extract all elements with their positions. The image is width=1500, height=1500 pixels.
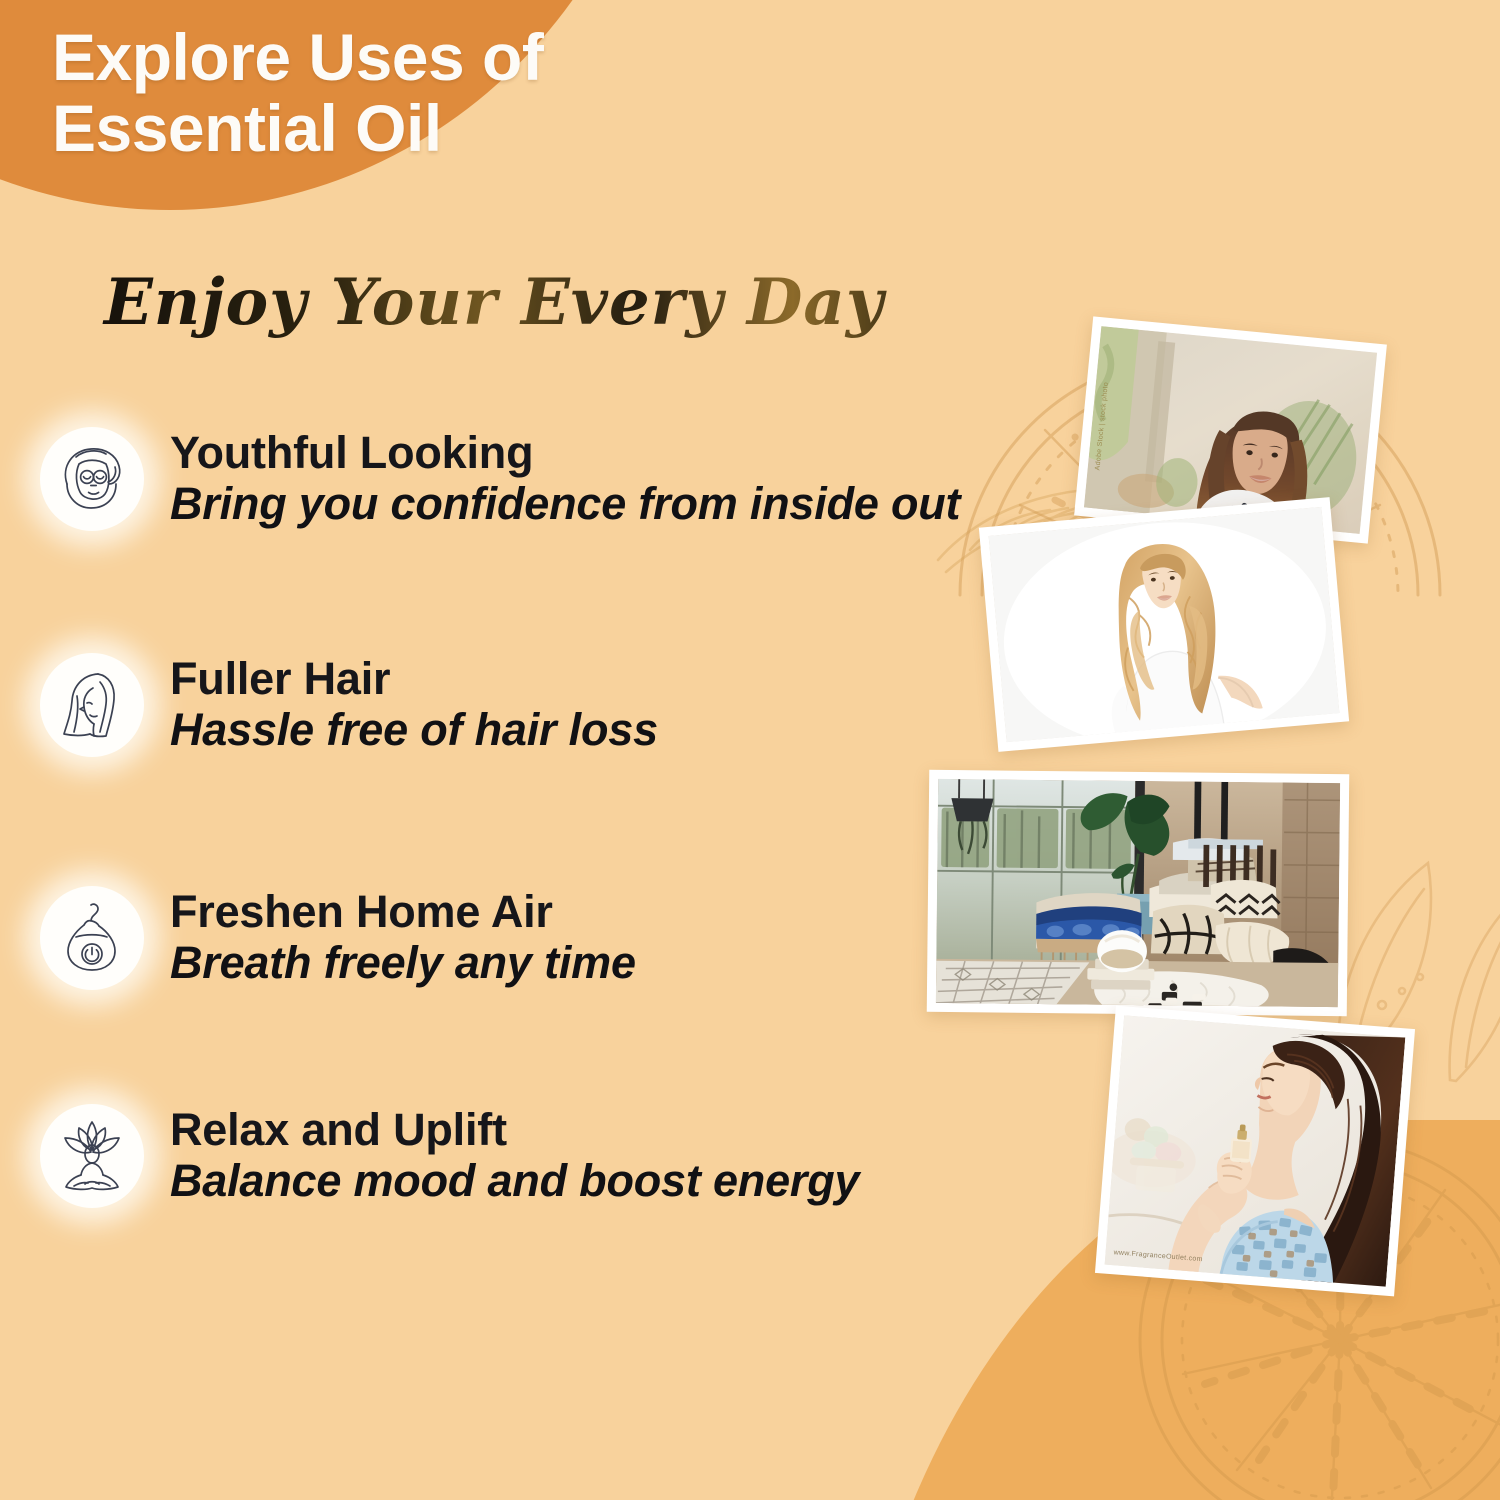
feature-title: Fuller Hair [170, 654, 1020, 704]
face-mask-icon [53, 440, 131, 518]
feature-row-fuller-hair: Fuller Hair Hassle free of hair loss [0, 590, 1020, 820]
feature-row-freshen-home-air: Freshen Home Air Breath freely any time [0, 820, 1020, 1056]
photo-smiling-woman-image: Adobe Stock | stock photo [1084, 326, 1377, 534]
tagline-text: Enjoy Your Every Day [102, 265, 887, 340]
long-hair-profile-icon [53, 666, 131, 744]
feature-subtitle: Balance mood and boost energy [170, 1155, 1020, 1207]
long-hair-profile-icon-badge [40, 653, 144, 757]
aroma-diffuser-icon [53, 899, 131, 977]
feature-row-relax-and-uplift: Relax and Uplift Balance mood and boost … [0, 1056, 1020, 1256]
page-title-line-1: Explore Uses of [52, 20, 543, 94]
aroma-diffuser-icon-badge [40, 886, 144, 990]
feature-title: Relax and Uplift [170, 1105, 1020, 1155]
page-title-line-2: Essential Oil [52, 93, 632, 164]
face-mask-icon-badge [40, 427, 144, 531]
feature-subtitle: Hassle free of hair loss [170, 704, 1020, 756]
tagline: Enjoy Your Every Day [104, 262, 884, 348]
page-title: Explore Uses of Essential Oil [52, 22, 632, 165]
infographic-canvas: Explore Uses of Essential Oil Enjoy Your… [0, 0, 1500, 1500]
photo-long-blonde-hair [979, 497, 1349, 752]
feature-text-freshen-home-air: Freshen Home Air Breath freely any time [170, 887, 1020, 990]
photo-woman-applying-perfume-image: www.FragranceOutlet.com [1105, 1015, 1406, 1286]
feature-list: Youthful Looking Bring you confidence fr… [0, 368, 1020, 1256]
feature-text-youthful-looking: Youthful Looking Bring you confidence fr… [170, 428, 1020, 531]
feature-text-relax-and-uplift: Relax and Uplift Balance mood and boost … [170, 1105, 1020, 1208]
lotus-meditation-icon-badge [40, 1104, 144, 1208]
lotus-meditation-icon [52, 1116, 132, 1196]
feature-subtitle: Bring you confidence from inside out [170, 478, 1020, 530]
feature-row-youthful-looking: Youthful Looking Bring you confidence fr… [0, 368, 1020, 590]
feature-title: Freshen Home Air [170, 887, 1020, 937]
photo-long-blonde-hair-image [989, 507, 1340, 742]
feature-text-fuller-hair: Fuller Hair Hassle free of hair loss [170, 654, 1020, 757]
feature-title: Youthful Looking [170, 428, 1020, 478]
photo-woman-applying-perfume: www.FragranceOutlet.com [1095, 1006, 1415, 1297]
feature-subtitle: Breath freely any time [170, 937, 1020, 989]
